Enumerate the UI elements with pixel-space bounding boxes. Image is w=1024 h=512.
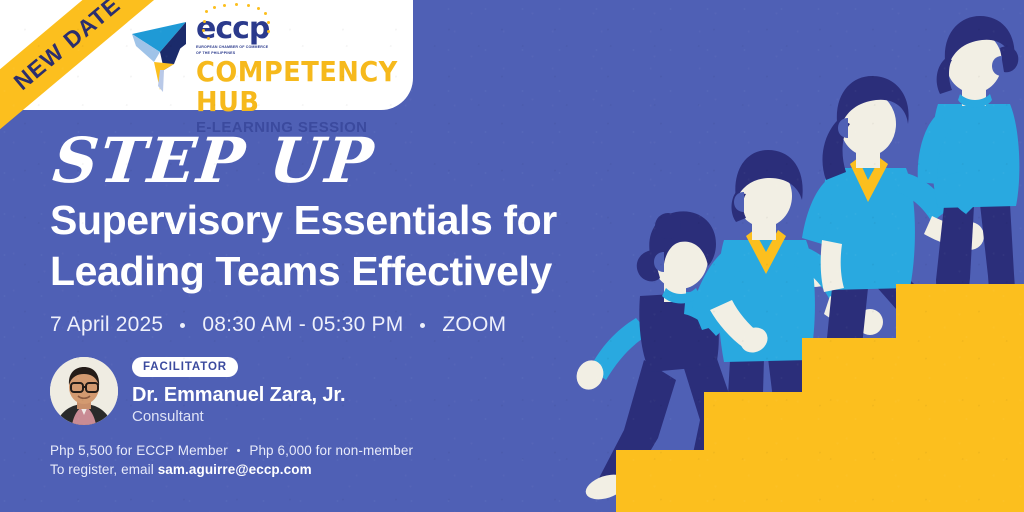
registration-prefix: To register, email <box>50 462 158 477</box>
status-badge: FACILITATOR <box>132 357 238 377</box>
meta-separator-dot-2 <box>420 323 425 328</box>
facilitator-name: Dr. Emmanuel Zara, Jr. <box>132 384 345 407</box>
kicker-step-up: STEP UP <box>50 128 657 194</box>
price-separator-dot <box>237 449 241 453</box>
event-date: 7 April 2025 <box>50 313 163 337</box>
meta-separator-dot-1 <box>180 323 185 328</box>
facilitator-block: FACILITATOR Dr. Emmanuel Zara, Jr. Consu… <box>50 357 650 425</box>
registration-email[interactable]: sam.aguirre@eccp.com <box>158 462 312 477</box>
avatar <box>50 357 118 425</box>
poster-canvas: eccp <box>0 0 1024 512</box>
facilitator-text: FACILITATOR Dr. Emmanuel Zara, Jr. Consu… <box>132 357 345 425</box>
registration-row: To register, email sam.aguirre@eccp.com <box>50 462 413 477</box>
price-nonmember: Php 6,000 for non-member <box>249 443 413 458</box>
eccp-brand-logo: eccp <box>130 8 410 108</box>
event-platform: ZOOM <box>442 313 506 337</box>
paper-plane-icon <box>130 12 192 94</box>
pricing-row: Php 5,500 for ECCP Member Php 6,000 for … <box>50 443 413 458</box>
title-line-2: Leading Teams Effectively <box>50 247 650 296</box>
footer-block: Php 5,500 for ECCP Member Php 6,000 for … <box>50 443 413 477</box>
title-line-1: Supervisory Essentials for <box>50 196 650 245</box>
main-content: STEP UP Supervisory Essentials for Leadi… <box>50 128 650 425</box>
event-time: 08:30 AM - 05:30 PM <box>202 313 403 337</box>
avatar-photo <box>50 357 118 425</box>
competency-hub-title: COMPETENCY HUB <box>196 57 398 117</box>
eccp-subtitle-line1: EUROPEAN CHAMBER OF COMMERCE <box>196 45 415 50</box>
price-member: Php 5,500 for ECCP Member <box>50 443 228 458</box>
facilitator-role: Consultant <box>132 408 345 425</box>
event-meta: 7 April 2025 08:30 AM - 05:30 PM ZOOM <box>50 313 650 337</box>
